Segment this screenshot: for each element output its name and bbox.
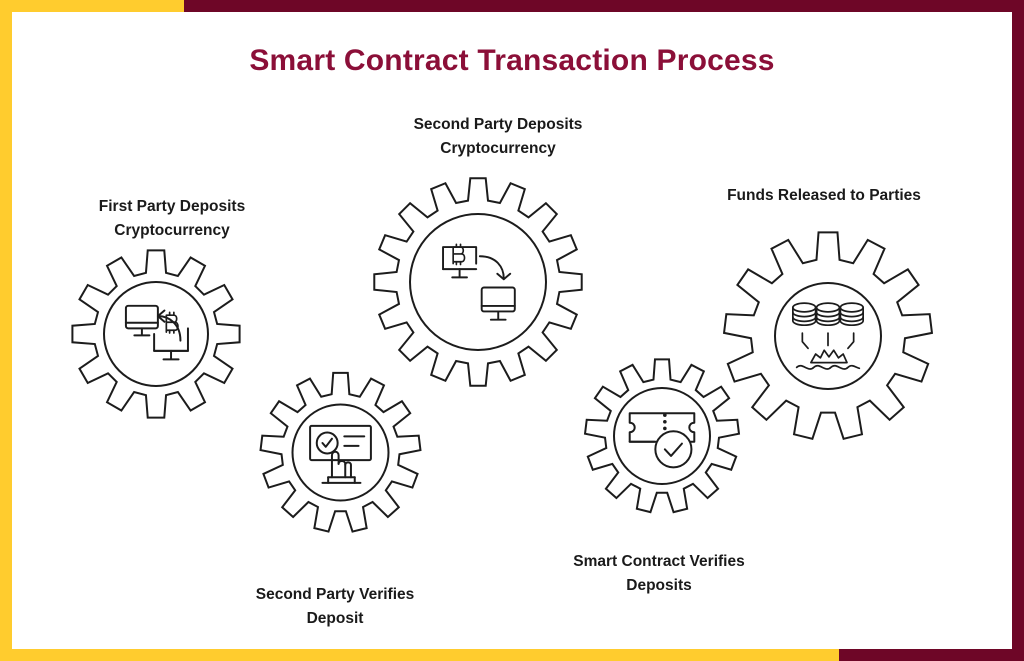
frame-border-top-left <box>0 0 184 12</box>
frame-border-bottom-right <box>839 649 1024 661</box>
step-label-5: Funds Released to Parties <box>704 184 944 208</box>
frame-border-left <box>0 0 12 661</box>
step-label-4: Smart Contract Verifies Deposits <box>539 550 779 598</box>
gear-step-3 <box>258 370 423 535</box>
frame-border-bottom-left <box>0 649 839 661</box>
gear-step-2 <box>372 176 584 388</box>
gear-step-4 <box>583 357 741 515</box>
step-label-3: Second Party Verifies Deposit <box>215 583 455 631</box>
gear-step-5 <box>722 230 934 442</box>
step-label-2: Second Party Deposits Cryptocurrency <box>378 113 618 161</box>
page-title: Smart Contract Transaction Process <box>0 44 1024 78</box>
frame-border-right <box>1012 0 1024 661</box>
frame-border-top-right <box>184 0 1024 12</box>
diagram-canvas: Smart Contract Transaction Process <box>0 0 1024 661</box>
step-label-1: First Party Deposits Cryptocurrency <box>52 195 292 243</box>
gear-step-1 <box>70 248 242 420</box>
